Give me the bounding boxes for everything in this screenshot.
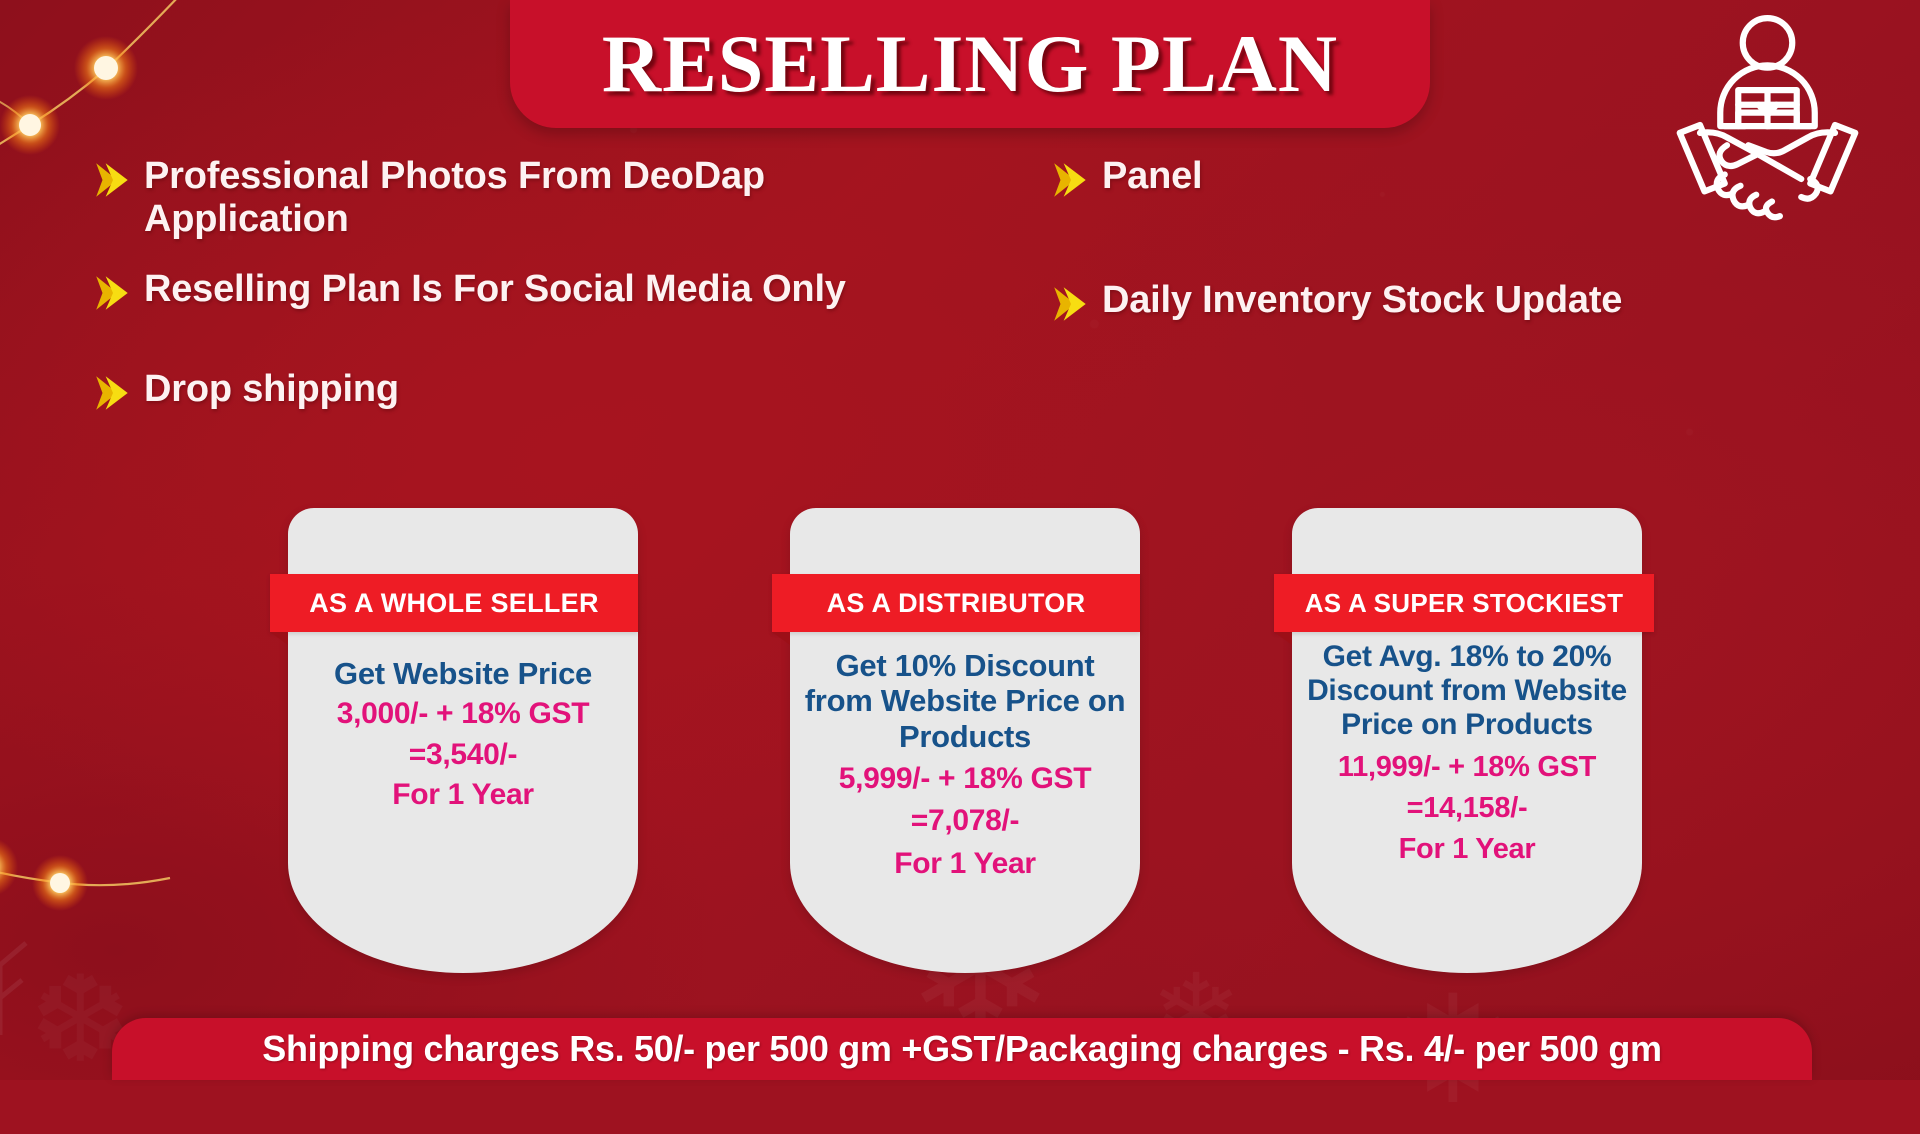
plan-price-line: 3,000/- + 18% GST <box>302 691 624 732</box>
plan-ribbon-label: AS A DISTRIBUTOR <box>827 588 1086 619</box>
plan-card-super-stockiest[interactable]: AS A SUPER STOCKIEST Get Avg. 18% to 20%… <box>1292 508 1642 973</box>
plan-card-distributor[interactable]: AS A DISTRIBUTOR Get 10% Discount from W… <box>790 508 1140 973</box>
plan-price-total: =7,078/- <box>804 796 1126 839</box>
shipping-charges-text: Shipping charges Rs. 50/- per 500 gm +GS… <box>262 1028 1662 1070</box>
pricing-plan-cards: AS A WHOLE SELLER Get Website Price 3,00… <box>0 0 1920 1080</box>
plan-ribbon: AS A DISTRIBUTOR <box>772 574 1140 632</box>
plan-card-content: Get 10% Discount from Website Price on P… <box>790 508 1140 881</box>
plan-price-total: =3,540/- <box>302 732 624 773</box>
shipping-charges-banner: Shipping charges Rs. 50/- per 500 gm +GS… <box>112 1018 1812 1080</box>
plan-duration: For 1 Year <box>302 772 624 813</box>
plan-duration: For 1 Year <box>1306 825 1628 866</box>
plan-price-line: 5,999/- + 18% GST <box>804 754 1126 797</box>
plan-card-content: Get Avg. 18% to 20% Discount from Websit… <box>1292 508 1642 867</box>
plan-card-body: AS A WHOLE SELLER Get Website Price 3,00… <box>288 508 638 973</box>
plan-price-total: =14,158/- <box>1306 784 1628 825</box>
plan-card-body: AS A SUPER STOCKIEST Get Avg. 18% to 20%… <box>1292 508 1642 973</box>
plan-card-content: Get Website Price 3,000/- + 18% GST =3,5… <box>288 508 638 813</box>
plan-ribbon-label: AS A SUPER STOCKIEST <box>1305 588 1624 619</box>
plan-price-line: 11,999/- + 18% GST <box>1306 743 1628 784</box>
plan-ribbon-label: AS A WHOLE SELLER <box>309 588 599 619</box>
plan-card-whole-seller[interactable]: AS A WHOLE SELLER Get Website Price 3,00… <box>288 508 638 973</box>
plan-card-body: AS A DISTRIBUTOR Get 10% Discount from W… <box>790 508 1140 973</box>
plan-duration: For 1 Year <box>804 839 1126 882</box>
plan-ribbon: AS A SUPER STOCKIEST <box>1274 574 1654 632</box>
plan-ribbon: AS A WHOLE SELLER <box>270 574 638 632</box>
